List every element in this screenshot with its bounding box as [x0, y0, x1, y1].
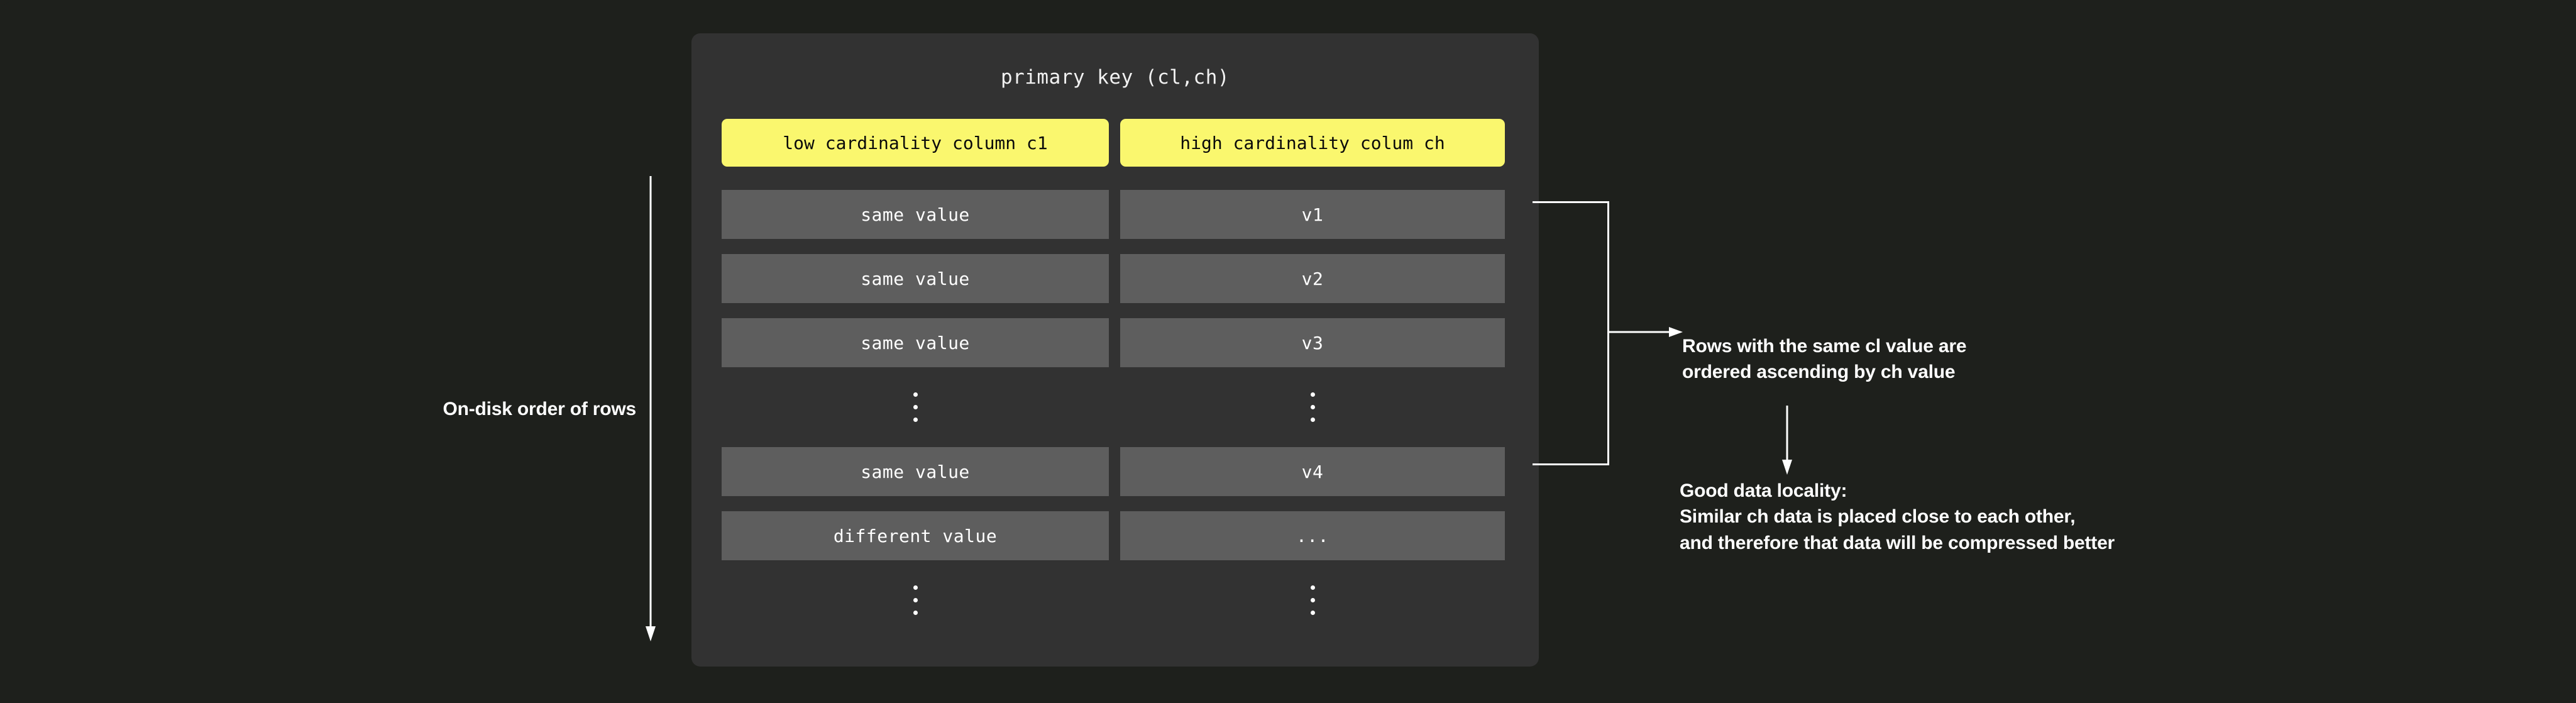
annotation-row-ordering: Rows with the same cl value are ordered … — [1682, 333, 2160, 385]
bracket-bottom-segment — [1533, 463, 1609, 465]
ellipsis-dot — [913, 585, 918, 590]
table-cell: different value — [722, 511, 1109, 560]
table-cell: ... — [1120, 511, 1505, 560]
column-header-high-cardinality: high cardinality colum ch — [1120, 119, 1505, 167]
ellipsis-dot — [1311, 611, 1315, 615]
ellipsis-dot — [913, 392, 918, 397]
bracket-to-note-arrow — [1607, 323, 1683, 341]
ellipsis-dot — [1311, 418, 1315, 422]
table-cell: same value — [722, 447, 1109, 496]
card-title: primary key (cl,ch) — [691, 66, 1539, 89]
annotation-connector-arrow — [1778, 406, 1797, 475]
ellipsis-dot — [1311, 598, 1315, 602]
table-cell: v3 — [1120, 318, 1505, 367]
on-disk-order-arrow — [641, 176, 660, 641]
annotation-data-locality: Good data locality: Similar ch data is p… — [1680, 478, 2245, 556]
ellipsis-dot — [913, 405, 918, 409]
ellipsis-vertical — [1120, 382, 1505, 431]
ellipsis-dot — [1311, 405, 1315, 409]
on-disk-order-label: On-disk order of rows — [410, 399, 636, 420]
ellipsis-dot — [913, 598, 918, 602]
ellipsis-dot — [1311, 585, 1315, 590]
table-cell: v4 — [1120, 447, 1505, 496]
ellipsis-vertical — [1120, 575, 1505, 624]
ellipsis-dot — [913, 418, 918, 422]
table-cell: same value — [722, 254, 1109, 303]
column-header-low-cardinality: low cardinality column c1 — [722, 119, 1109, 167]
diagram-canvas: On-disk order of rows primary key (cl,ch… — [0, 0, 2576, 703]
ellipsis-vertical — [722, 382, 1109, 431]
ellipsis-dot — [1311, 392, 1315, 397]
ellipsis-dot — [913, 611, 918, 615]
table-cell: v1 — [1120, 190, 1505, 239]
table-cell: v2 — [1120, 254, 1505, 303]
table-cell: same value — [722, 318, 1109, 367]
bracket-top-segment — [1533, 201, 1609, 203]
ellipsis-vertical — [722, 575, 1109, 624]
table-cell: same value — [722, 190, 1109, 239]
primary-key-card: primary key (cl,ch) low cardinality colu… — [691, 33, 1539, 667]
